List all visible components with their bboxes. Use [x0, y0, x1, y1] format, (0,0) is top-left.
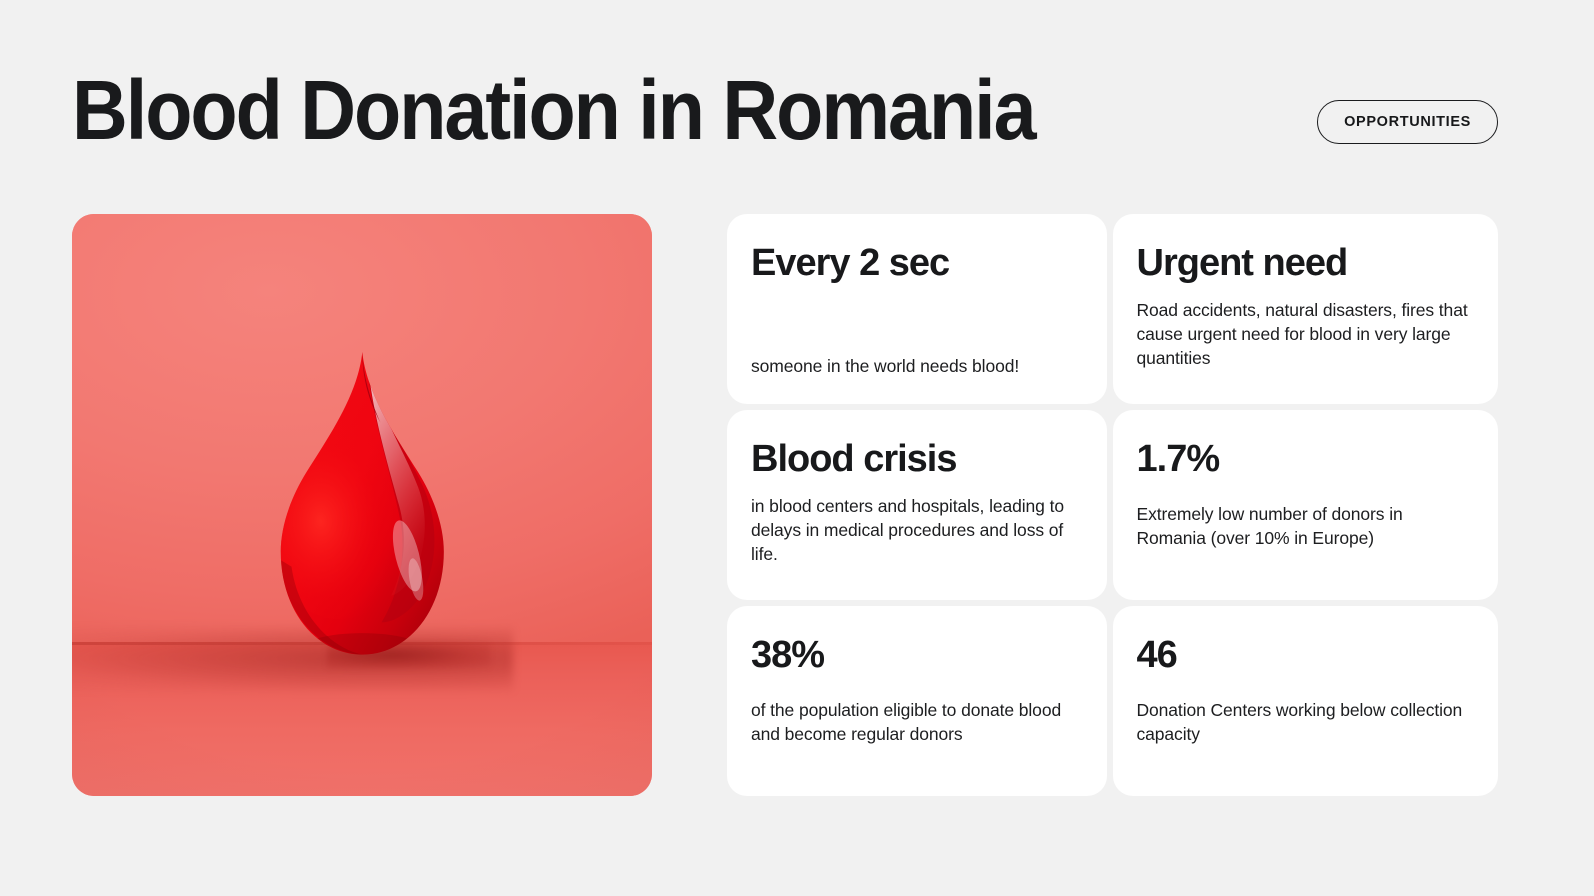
stat-card-eligible-population: 38% of the population eligible to donate…: [727, 606, 1107, 796]
stat-card-body: someone in the world needs blood!: [751, 354, 1081, 380]
page-title: Blood Donation in Romania: [72, 68, 1035, 152]
stat-card-body: Road accidents, natural disasters, fires…: [1137, 298, 1473, 370]
stat-card-blood-crisis: Blood crisis in blood centers and hospit…: [727, 410, 1107, 600]
stat-card-body: Extremely low number of donors in Romani…: [1137, 502, 1473, 550]
opportunities-badge[interactable]: OPPORTUNITIES: [1317, 100, 1498, 144]
presentation-slide: Blood Donation in Romania OPPORTUNITIES: [0, 0, 1594, 896]
stat-card-heading: Every 2 sec: [751, 244, 1081, 284]
stat-card-body: of the population eligible to donate blo…: [751, 698, 1081, 746]
stat-card-donor-percentage: 1.7% Extremely low number of donors in R…: [1113, 410, 1499, 600]
stat-card-heading: 1.7%: [1137, 440, 1473, 480]
stat-card-heading: Blood crisis: [751, 440, 1081, 480]
stat-card-body: in blood centers and hospitals, leading …: [751, 494, 1081, 566]
stat-card-donation-centers: 46 Donation Centers working below collec…: [1113, 606, 1499, 796]
stat-card-body: Donation Centers working below collectio…: [1137, 698, 1473, 746]
blood-drop-icon: [255, 345, 470, 668]
stat-card-heading: Urgent need: [1137, 244, 1473, 284]
stat-card-urgent-need: Urgent need Road accidents, natural disa…: [1113, 214, 1499, 404]
stats-card-grid: Every 2 sec someone in the world needs b…: [727, 214, 1498, 796]
stat-card-heading: 38%: [751, 636, 1081, 676]
stat-card-heading: 46: [1137, 636, 1473, 676]
stat-card-every-2-sec: Every 2 sec someone in the world needs b…: [727, 214, 1107, 404]
hero-image-blood-drop: [72, 214, 652, 796]
slide-header: Blood Donation in Romania OPPORTUNITIES: [72, 72, 1498, 182]
